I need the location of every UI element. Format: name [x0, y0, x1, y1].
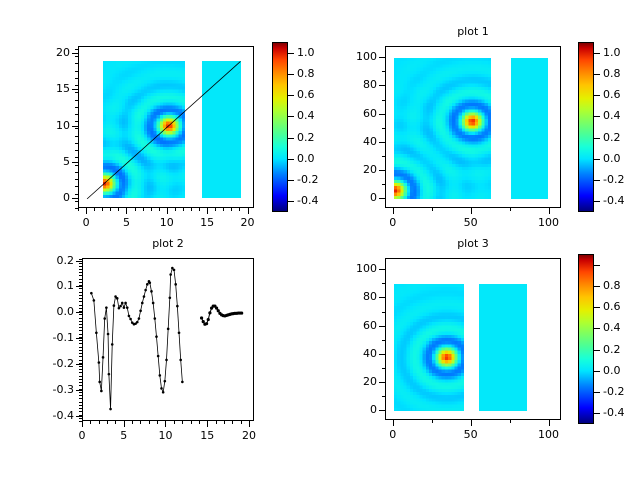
data-point-marker [240, 311, 243, 314]
ytick-major [379, 170, 385, 171]
data-point-marker [126, 306, 129, 309]
ytick-minor [75, 107, 78, 108]
ytick-label: 0 [319, 192, 377, 203]
ytick-minor [79, 415, 82, 416]
data-point-marker [116, 297, 119, 300]
ytick-minor [79, 269, 82, 270]
ytick-minor [79, 301, 82, 302]
ytick-minor [79, 408, 82, 409]
ytick-major [72, 162, 78, 163]
ytick-major [379, 297, 385, 298]
ytick-label: 20 [319, 164, 377, 175]
ytick-minor [79, 395, 82, 396]
heatmap-canvas [103, 61, 185, 198]
data-point-marker [150, 290, 153, 293]
data-point-marker [118, 307, 121, 310]
ytick-minor [79, 279, 82, 280]
colorbar-tick [288, 159, 294, 160]
ytick-minor [79, 324, 82, 325]
xtick-minor [241, 421, 242, 424]
ytick-minor [79, 350, 82, 351]
colorbar-tick [594, 350, 600, 351]
ytick-minor [75, 157, 78, 158]
ytick-label: 100 [319, 51, 377, 62]
ytick-major [72, 89, 78, 90]
ytick-minor [75, 92, 78, 93]
ytick-minor [79, 382, 82, 383]
data-point-marker [113, 304, 116, 307]
data-point-marker [162, 391, 165, 394]
colorbar-topright [578, 42, 594, 212]
data-point-marker [128, 315, 131, 318]
ytick-minor [75, 49, 78, 50]
axes-bottomleft [82, 258, 254, 421]
xtick-minor [183, 208, 184, 211]
ytick-label: 20 [319, 376, 377, 387]
xtick-minor [157, 421, 158, 424]
ytick-minor [79, 385, 82, 386]
xtick-minor [159, 208, 160, 211]
ytick-label: 80 [319, 79, 377, 90]
data-point-marker [160, 387, 163, 390]
colorbar-tick-label: 0.4 [603, 322, 640, 333]
xtick-label: 20 [224, 430, 274, 441]
ytick-major [76, 261, 82, 262]
ytick-minor [75, 121, 78, 122]
data-point-marker [200, 316, 203, 319]
data-point-marker [143, 295, 146, 298]
ytick-minor [75, 78, 78, 79]
ytick-minor [79, 334, 82, 335]
ytick-label: -0.1 [16, 332, 74, 343]
xtick-label: 100 [524, 217, 574, 228]
data-point-marker [146, 283, 149, 286]
data-point-marker [159, 374, 162, 377]
xtick-minor [115, 421, 116, 424]
xtick-minor [143, 208, 144, 211]
ytick-minor [79, 298, 82, 299]
xtick-minor [249, 421, 250, 424]
data-point-marker [123, 306, 126, 309]
colorbar-tick [594, 201, 600, 202]
ytick-major [76, 338, 82, 339]
colorbar-tick [594, 116, 600, 117]
ytick-minor [75, 165, 78, 166]
ytick-minor [382, 184, 385, 185]
ytick-minor [79, 343, 82, 344]
heatmap-patch [103, 61, 185, 198]
data-point-marker [173, 269, 176, 272]
ytick-major [76, 364, 82, 365]
heatmap-canvas [394, 58, 491, 199]
ytick-minor [79, 337, 82, 338]
ytick-minor [75, 172, 78, 173]
ytick-label: 15 [12, 83, 70, 94]
data-point-marker [90, 292, 93, 295]
ytick-minor [382, 128, 385, 129]
data-point-marker [178, 331, 181, 334]
ytick-minor [79, 295, 82, 296]
xtick-minor [90, 421, 91, 424]
colorbar-tick-label: 0.0 [603, 153, 640, 164]
ytick-minor [382, 100, 385, 101]
data-point-marker [207, 318, 210, 321]
heatmap-patch [479, 284, 527, 411]
ytick-label: 10 [12, 120, 70, 131]
ytick-minor [79, 398, 82, 399]
xtick-minor [239, 208, 240, 211]
ytick-minor [75, 143, 78, 144]
ytick-minor [79, 288, 82, 289]
ytick-minor [79, 282, 82, 283]
xtick-label: 0 [368, 429, 418, 440]
colorbar-tick [594, 138, 600, 139]
colorbar-tick-label: -0.2 [603, 386, 640, 397]
ytick-label: 0.2 [16, 255, 74, 266]
ytick-minor [79, 389, 82, 390]
heatmap-patch [394, 58, 491, 199]
colorbar-tick-label: 0.8 [603, 280, 640, 291]
colorbar-tick [594, 371, 600, 372]
ytick-minor [79, 314, 82, 315]
data-point-marker [181, 381, 184, 384]
data-point-marker [105, 306, 108, 309]
heatmap-canvas [511, 58, 548, 199]
xtick-major [393, 208, 394, 214]
ytick-minor [79, 285, 82, 286]
ytick-major [379, 85, 385, 86]
ytick-minor [79, 311, 82, 312]
ytick-minor [79, 392, 82, 393]
colorbar-gradient [579, 43, 593, 211]
colorbar-tick [594, 413, 600, 414]
xtick-minor [432, 420, 433, 423]
axes-topright [385, 46, 561, 208]
colorbar-tick [594, 265, 600, 266]
ytick-major [76, 312, 82, 313]
ytick-label: 0.0 [16, 306, 74, 317]
colorbar-tick-label: 0.8 [297, 68, 343, 79]
axes-bottomright [385, 258, 561, 420]
figure-canvas: 0510152005101520-0.4-0.20.00.20.40.60.81… [0, 0, 640, 480]
xtick-minor [94, 208, 95, 211]
ytick-minor [79, 275, 82, 276]
xtick-minor [199, 421, 200, 424]
xtick-major [471, 420, 472, 426]
data-point-marker [174, 283, 177, 286]
ytick-minor [75, 85, 78, 86]
ytick-minor [79, 321, 82, 322]
ytick-minor [382, 156, 385, 157]
heatmap-patch [511, 58, 548, 199]
ytick-minor [382, 368, 385, 369]
xtick-minor [124, 421, 125, 424]
ytick-minor [75, 179, 78, 180]
data-point-marker [136, 321, 139, 324]
colorbar-tick [594, 180, 600, 181]
ytick-minor [75, 114, 78, 115]
colorbar-tick-label: 0.2 [603, 132, 640, 143]
xtick-minor [248, 208, 249, 211]
ytick-major [72, 126, 78, 127]
colorbar-tick [288, 201, 294, 202]
xtick-minor [140, 421, 141, 424]
heatmap-patch [202, 61, 241, 198]
colorbar-tick [288, 138, 294, 139]
ytick-major [379, 269, 385, 270]
ytick-label: 40 [319, 348, 377, 359]
colorbar-tick [594, 307, 600, 308]
colorbar-tick [288, 53, 294, 54]
xtick-minor [175, 208, 176, 211]
colorbar-tick [594, 53, 600, 54]
ytick-minor [79, 369, 82, 370]
colorbar-tick [288, 74, 294, 75]
ytick-minor [75, 100, 78, 101]
colorbar-tick-label: 0.2 [603, 344, 640, 355]
ytick-minor [75, 150, 78, 151]
panel-title-bottomright: plot 3 [413, 238, 533, 250]
ytick-minor [75, 63, 78, 64]
data-point-marker [98, 381, 101, 384]
data-point-marker [93, 299, 96, 302]
ytick-minor [75, 128, 78, 129]
xtick-minor [223, 208, 224, 211]
data-point-marker [205, 322, 208, 325]
line-path [91, 268, 182, 409]
ytick-minor [75, 136, 78, 137]
colorbar-tick [594, 392, 600, 393]
heatmap-canvas [202, 61, 241, 198]
data-point-marker [102, 356, 105, 359]
xtick-minor [232, 421, 233, 424]
data-point-marker [124, 302, 127, 305]
xtick-minor [132, 421, 133, 424]
data-point-marker [152, 302, 155, 305]
xtick-minor [165, 421, 166, 424]
xtick-minor [231, 208, 232, 211]
data-point-marker [165, 359, 168, 362]
ytick-minor [79, 263, 82, 264]
xtick-minor [118, 208, 119, 211]
ytick-minor [79, 259, 82, 260]
ytick-minor [79, 340, 82, 341]
xtick-minor [167, 208, 168, 211]
ytick-minor [79, 418, 82, 419]
ytick-minor [79, 266, 82, 267]
xtick-minor [78, 208, 79, 211]
data-point-marker [100, 390, 103, 393]
ytick-major [379, 142, 385, 143]
xtick-minor [126, 208, 127, 211]
ytick-minor [382, 396, 385, 397]
xtick-major [549, 420, 550, 426]
ytick-minor [79, 372, 82, 373]
ytick-major [72, 53, 78, 54]
line-series-group [83, 259, 254, 421]
ytick-minor [79, 360, 82, 361]
ytick-minor [382, 283, 385, 284]
ytick-label: -0.2 [16, 358, 74, 369]
ytick-major [379, 382, 385, 383]
colorbar-tick [594, 95, 600, 96]
ytick-label: 5 [12, 156, 70, 167]
colorbar-topleft [272, 42, 288, 212]
xtick-label: 100 [524, 429, 574, 440]
ytick-minor [79, 347, 82, 348]
data-point-marker [95, 331, 98, 334]
data-point-marker [169, 297, 172, 300]
ytick-label: 0 [12, 192, 70, 203]
data-point-marker [176, 305, 179, 308]
xtick-minor [510, 420, 511, 423]
ytick-major [379, 198, 385, 199]
data-point-marker [129, 318, 132, 321]
ytick-minor [79, 305, 82, 306]
heatmap-canvas [394, 284, 464, 411]
ytick-minor [79, 272, 82, 273]
xtick-major [393, 420, 394, 426]
data-point-marker [121, 302, 124, 305]
xtick-label: 50 [446, 217, 496, 228]
ytick-label: -0.4 [16, 410, 74, 421]
ytick-major [76, 286, 82, 287]
colorbar-gradient [579, 255, 593, 423]
colorbar-tick [594, 328, 600, 329]
data-point-marker [154, 317, 157, 320]
data-point-marker [108, 373, 111, 376]
data-point-marker [144, 289, 147, 292]
xtick-minor [199, 208, 200, 211]
colorbar-tick [288, 180, 294, 181]
ytick-minor [75, 186, 78, 187]
data-point-marker [167, 328, 170, 331]
heatmap-patch [394, 284, 464, 411]
xtick-minor [82, 421, 83, 424]
colorbar-tick-label: 0.6 [603, 301, 640, 312]
ytick-minor [79, 353, 82, 354]
colorbar-tick-label: -0.2 [603, 174, 640, 185]
xtick-minor [107, 421, 108, 424]
xtick-minor [102, 208, 103, 211]
xtick-minor [86, 208, 87, 211]
ytick-major [76, 390, 82, 391]
xtick-major [471, 208, 472, 214]
xtick-minor [135, 208, 136, 211]
ytick-minor [79, 292, 82, 293]
ytick-minor [382, 312, 385, 313]
data-point-marker [157, 355, 160, 358]
colorbar-tick [288, 116, 294, 117]
data-point-marker [141, 302, 144, 305]
colorbar-tick-label: 0.0 [297, 153, 343, 164]
data-point-marker [149, 282, 152, 285]
ytick-minor [79, 318, 82, 319]
ytick-minor [382, 71, 385, 72]
ytick-minor [79, 366, 82, 367]
xtick-minor [174, 421, 175, 424]
colorbar-tick [594, 74, 600, 75]
ytick-minor [79, 379, 82, 380]
ytick-major [379, 326, 385, 327]
ytick-minor [79, 308, 82, 309]
xtick-label: 50 [446, 429, 496, 440]
colorbar-tick-label: -0.4 [603, 195, 640, 206]
ytick-major [379, 410, 385, 411]
xtick-minor [207, 208, 208, 211]
xtick-minor [151, 208, 152, 211]
xtick-minor [224, 421, 225, 424]
data-point-marker [155, 335, 158, 338]
xtick-major [549, 208, 550, 214]
colorbar-tick [594, 286, 600, 287]
ytick-minor [79, 411, 82, 412]
colorbar-tick [594, 159, 600, 160]
ytick-major [379, 354, 385, 355]
ytick-label: 80 [319, 291, 377, 302]
heatmap-canvas [479, 284, 527, 411]
data-point-marker [208, 311, 211, 314]
xtick-minor [182, 421, 183, 424]
panel-title-topright: plot 1 [413, 26, 533, 38]
panel-title-bottomleft: plot 2 [108, 238, 228, 250]
data-point-marker [164, 380, 167, 383]
xtick-minor [99, 421, 100, 424]
data-point-marker [169, 273, 172, 276]
data-point-marker [107, 333, 110, 336]
ytick-minor [79, 405, 82, 406]
ytick-minor [75, 56, 78, 57]
ytick-minor [79, 376, 82, 377]
ytick-label: 60 [319, 320, 377, 331]
ytick-minor [79, 330, 82, 331]
xtick-minor [191, 208, 192, 211]
data-point-marker [111, 343, 114, 346]
colorbar-gradient [273, 43, 287, 211]
ytick-minor [79, 327, 82, 328]
xtick-minor [216, 421, 217, 424]
colorbar-tick-label: -0.2 [297, 174, 343, 185]
colorbar-tick-label: 0.4 [603, 110, 640, 121]
colorbar-tick-label: -0.4 [603, 407, 640, 418]
ytick-label: -0.3 [16, 384, 74, 395]
ytick-major [72, 198, 78, 199]
data-point-marker [138, 317, 141, 320]
data-point-marker [109, 408, 112, 411]
ytick-label: 0 [319, 404, 377, 415]
ytick-major [379, 114, 385, 115]
ytick-minor [79, 356, 82, 357]
ytick-label: 40 [319, 136, 377, 147]
ytick-minor [79, 363, 82, 364]
ytick-label: 20 [12, 47, 70, 58]
ytick-major [76, 416, 82, 417]
data-point-marker [103, 317, 106, 320]
ytick-minor [79, 402, 82, 403]
ytick-major [379, 57, 385, 58]
xtick-label: 20 [223, 217, 273, 228]
ytick-minor [75, 201, 78, 202]
data-point-marker [139, 309, 142, 312]
colorbar-tick-label: 0.0 [603, 365, 640, 376]
ytick-label: 0.1 [16, 280, 74, 291]
data-point-marker [98, 361, 101, 364]
ytick-minor [382, 340, 385, 341]
ytick-minor [75, 194, 78, 195]
colorbar-bottomright [578, 254, 594, 424]
ytick-minor [75, 71, 78, 72]
xtick-minor [215, 208, 216, 211]
